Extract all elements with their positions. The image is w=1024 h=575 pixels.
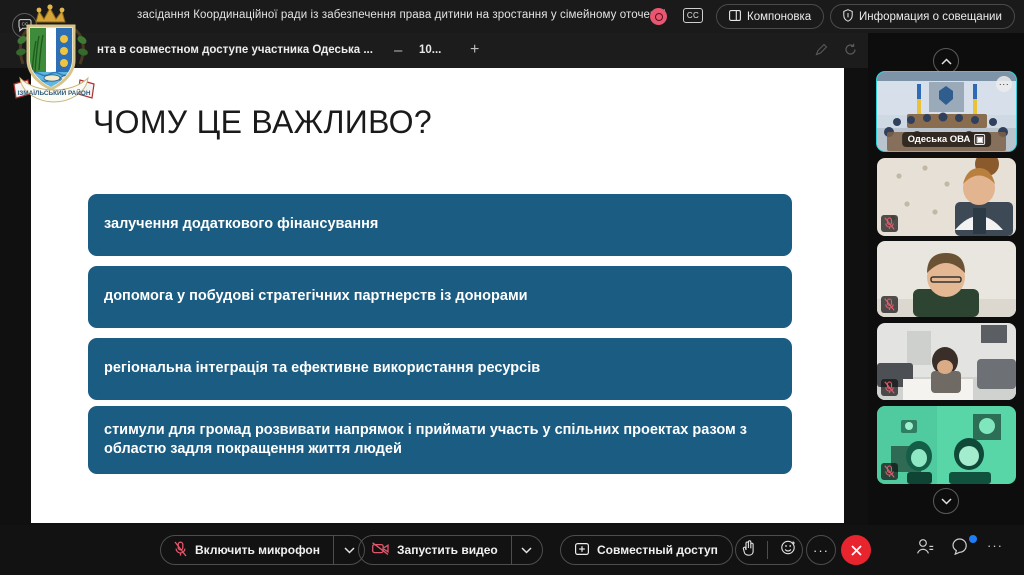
zoom-level-label[interactable]: 10...	[419, 44, 441, 56]
start-video-button[interactable]: Запустить видео	[359, 536, 511, 564]
screen-share-status-text: нта в совместном доступе участника Одесь…	[97, 44, 373, 56]
slide-bullet-box: стимули для громад розвивати напрямок і …	[88, 406, 792, 474]
share-screen-button-label: Совместный доступ	[597, 543, 718, 557]
meeting-info-button[interactable]: Информация о совещании	[830, 4, 1015, 29]
share-screen-icon	[575, 543, 589, 558]
divider	[767, 541, 768, 559]
slide-bullet-text: регіональна інтеграція та ефективне вико…	[104, 359, 540, 378]
slide-bullet-text: допомога у побудові стратегічних партнер…	[104, 287, 528, 306]
tile-more-icon[interactable]: ···	[996, 76, 1012, 92]
more-controls-button[interactable]: ···	[806, 535, 836, 565]
zoom-out-button[interactable]: –	[394, 42, 402, 59]
info-shield-icon	[843, 9, 853, 25]
slide-bullet-box: залучення додаткового фінансування	[88, 194, 792, 256]
slide-bullet-text: стимули для громад розвивати напрямок і …	[104, 421, 776, 460]
emoji-reaction-icon[interactable]	[781, 540, 796, 560]
start-video-button-label: Запустить видео	[397, 543, 498, 557]
scroll-up-button[interactable]	[933, 48, 959, 74]
chevron-down-icon	[521, 547, 532, 554]
participants-icon[interactable]	[916, 538, 934, 560]
mic-muted-icon	[881, 463, 898, 480]
mic-muted-icon	[174, 541, 187, 560]
slide-bullet-box: регіональна інтеграція та ефективне вико…	[88, 338, 792, 400]
participant-video-strip: ··· Одеська ОВА ▣	[868, 33, 1024, 525]
mic-muted-icon	[881, 296, 898, 313]
zoom-meeting-window: засідання Координаційної ради із забезпе…	[0, 0, 1024, 575]
video-tile[interactable]	[877, 406, 1016, 484]
chat-bubble-icon[interactable]	[952, 538, 970, 560]
shared-slide-content: ЧОМУ ЦЕ ВАЖЛИВО? залучення додаткового ф…	[31, 68, 844, 523]
slide-bullet-text: залучення додаткового фінансування	[104, 215, 378, 234]
coat-of-arms-icon: ІЗМАЇЛЬСЬКИЙ РАЙОН	[6, 2, 102, 112]
unmute-button[interactable]: Включить микрофон	[161, 536, 333, 564]
refresh-icon[interactable]	[844, 43, 857, 61]
chevron-up-icon	[941, 58, 952, 65]
slide-title: ЧОМУ ЦЕ ВАЖЛИВО?	[93, 104, 432, 141]
mic-muted-icon	[881, 379, 898, 396]
recording-indicator-icon[interactable]	[650, 8, 667, 25]
meeting-title: засідання Координаційної ради із забезпе…	[137, 9, 666, 21]
mic-muted-icon	[881, 215, 898, 232]
unmute-button-label: Включить микрофон	[195, 543, 320, 557]
share-screen-button[interactable]: Совместный доступ	[560, 535, 733, 565]
video-tile[interactable]	[877, 241, 1016, 317]
video-tile[interactable]	[877, 158, 1016, 236]
crest-caption: ІЗМАЇЛЬСЬКИЙ РАЙОН	[18, 88, 91, 97]
chevron-down-icon	[344, 547, 355, 554]
chevron-down-icon	[941, 498, 952, 505]
video-tile[interactable]: ··· Одеська ОВА ▣	[877, 72, 1016, 151]
slide-bullet-box: допомога у побудові стратегічних партнер…	[88, 266, 792, 328]
video-options-caret[interactable]	[512, 536, 542, 564]
cc-badge-icon[interactable]: CC	[683, 8, 703, 23]
zoom-in-button[interactable]: +	[470, 41, 479, 59]
participant-name-chip: Одеська ОВА ▣	[902, 132, 992, 147]
leave-call-x-icon	[850, 544, 863, 557]
video-tile[interactable]	[877, 323, 1016, 400]
camera-muted-icon	[372, 542, 389, 558]
chat-unread-badge	[969, 535, 977, 543]
reactions-group	[735, 535, 803, 565]
participant-name: Одеська ОВА	[908, 134, 971, 145]
meeting-info-label: Информация о совещании	[859, 11, 1002, 23]
layout-grid-icon	[729, 10, 741, 24]
layout-button-label: Компоновка	[747, 11, 811, 23]
annotate-pen-icon[interactable]	[815, 43, 828, 61]
raise-hand-icon[interactable]	[742, 540, 755, 561]
overflow-menu-button[interactable]: ···	[987, 538, 1003, 553]
mic-control[interactable]: Включить микрофон	[160, 535, 365, 565]
leave-meeting-button[interactable]	[841, 535, 871, 565]
video-control[interactable]: Запустить видео	[358, 535, 543, 565]
pin-icon[interactable]: ▣	[974, 134, 985, 145]
layout-button[interactable]: Компоновка	[716, 4, 824, 29]
scroll-down-button[interactable]	[933, 488, 959, 514]
